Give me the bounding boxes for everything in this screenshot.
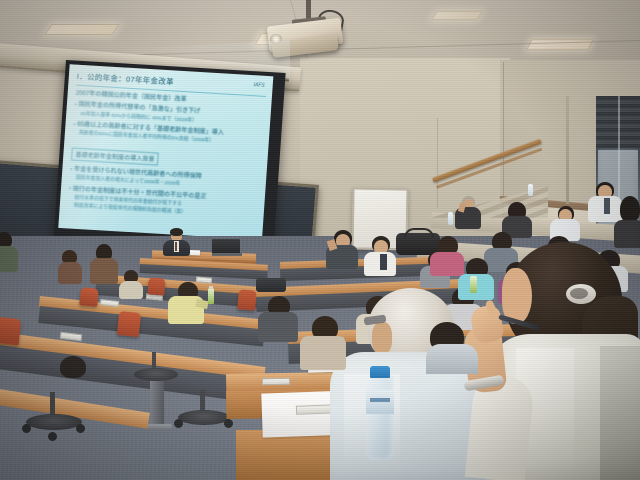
presenter-hair — [170, 228, 183, 236]
chair-backrest — [147, 277, 165, 295]
projection-screen-frame: I．公的年金：07年年金改革 IAFS 2007年の韓国公的年金（国民年金）改革… — [53, 60, 285, 253]
laptop-base — [212, 253, 242, 256]
audience-body — [119, 281, 143, 299]
slide-section-box: 基礎老齢年金制度の導入背景 — [71, 147, 159, 165]
wall-pilaster — [566, 96, 569, 204]
chair-base — [134, 368, 178, 381]
hair-tie-detail — [570, 288, 588, 299]
chair-backrest — [117, 311, 141, 337]
chair-caster — [48, 432, 57, 441]
water-bottle — [528, 184, 533, 196]
audience-necktie — [604, 198, 610, 214]
audience-body — [258, 312, 298, 342]
audience-body — [300, 336, 346, 370]
ceiling-light — [431, 11, 483, 20]
presenter-laptop — [212, 239, 240, 254]
ceiling-light — [526, 39, 593, 50]
chair-base — [26, 414, 82, 430]
presenter-tie — [175, 242, 177, 251]
audience-body — [614, 220, 640, 248]
bottle-cap — [370, 366, 390, 378]
audience-body-pink — [430, 252, 464, 276]
bottle-label — [366, 390, 394, 414]
wall-corner-edge — [437, 118, 438, 208]
chair-caster — [22, 424, 31, 433]
green-tea-bottle — [470, 276, 477, 293]
chair-backrest — [237, 289, 257, 310]
ceiling-light — [44, 24, 119, 35]
desk-foot — [144, 424, 172, 430]
chair-base — [178, 410, 230, 425]
chair-caster — [76, 424, 85, 433]
audience-hair — [60, 356, 86, 378]
audience-body — [90, 258, 118, 284]
audience-body — [0, 246, 18, 272]
chair-backrest — [0, 317, 21, 345]
slide-content: I．公的年金：07年年金改革 IAFS 2007年の韓国公的年金（国民年金）改革… — [67, 71, 267, 236]
audience-body — [58, 262, 82, 284]
audience-body — [426, 344, 478, 374]
foreground-man-ear — [372, 322, 392, 354]
desk-nameplate — [196, 276, 212, 283]
chair-caster — [174, 419, 183, 428]
green-tea-bottle — [208, 288, 214, 304]
bottle-label-text — [370, 398, 390, 402]
bag-strap — [404, 228, 434, 238]
slide-logo: IAFS — [253, 82, 265, 89]
chair-caster — [224, 419, 233, 428]
desk-nameplate — [262, 378, 290, 385]
equipment-box — [256, 278, 286, 292]
lecture-hall-photo: I．公的年金：07年年金改革 IAFS 2007年の韓国公的年金（国民年金）改革… — [0, 0, 640, 480]
audience-necktie — [380, 254, 387, 270]
water-bottle — [448, 212, 453, 225]
water-bottle — [366, 374, 394, 460]
projection-screen: I．公的年金：07年年金改革 IAFS 2007年の韓国公的年金（国民年金）改革… — [58, 64, 273, 240]
chair-backrest — [79, 287, 99, 307]
bottle-cap — [209, 286, 213, 289]
desk-leg — [150, 375, 164, 427]
audience-hair — [620, 196, 640, 222]
blouse-shadow — [600, 346, 640, 480]
